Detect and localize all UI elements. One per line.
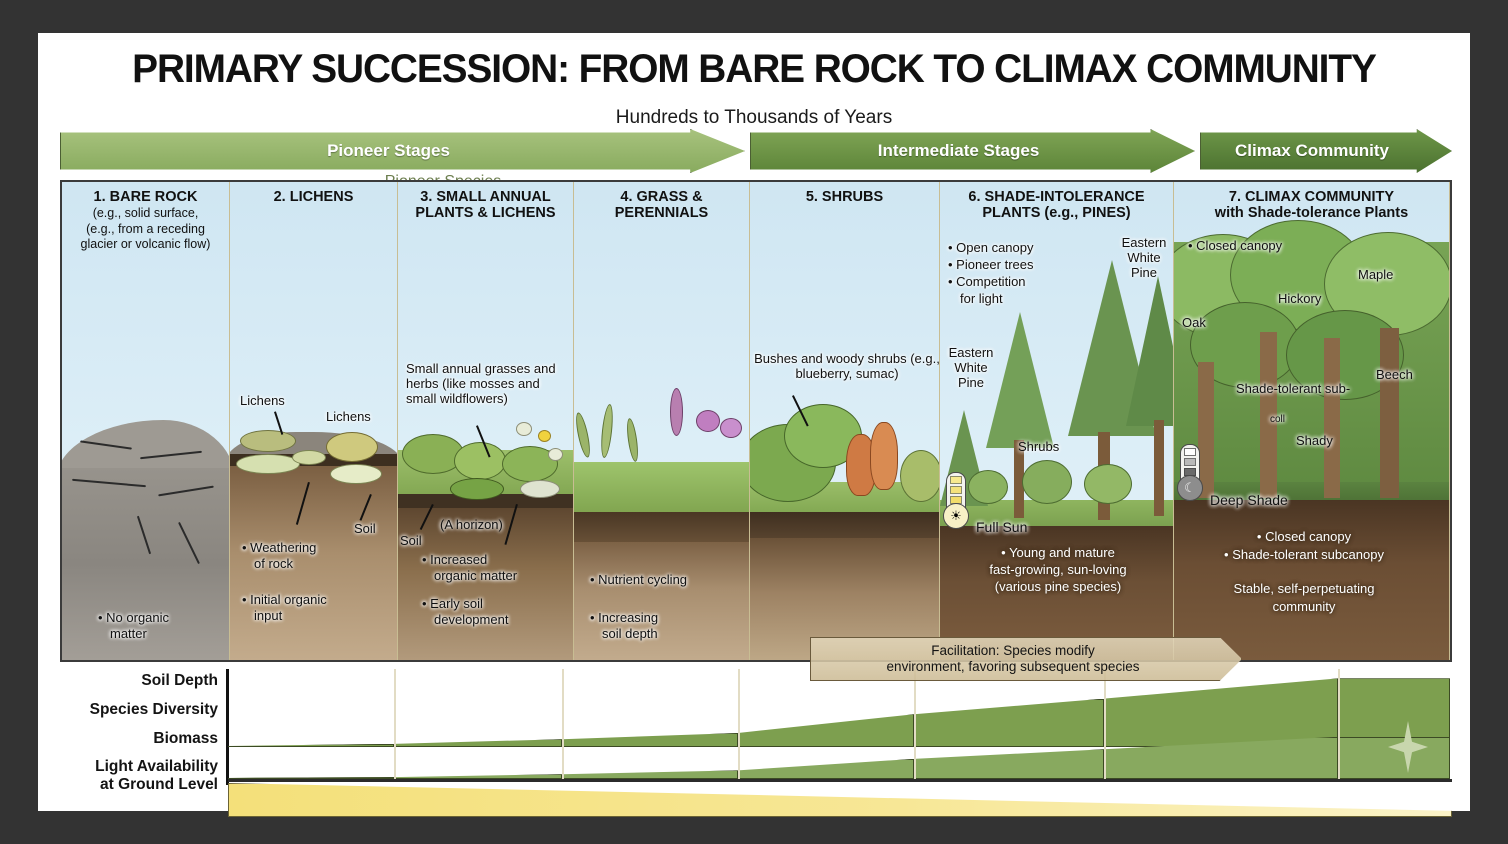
panel-7-climax-community[interactable]: 7. CLIMAX COMMUNITY with Shade-tolerance… [1174,182,1450,660]
callout-eastern-white-pine-left: Eastern White Pine [942,346,1000,391]
facilitation-line-1: Facilitation: Species modify [931,643,1095,658]
panel-6-footnote-line-3: (various pine species) [952,580,1164,595]
chart-axis-labels: Soil Depth Species Diversity Biomass Lig… [60,669,226,801]
panel-4-bullet-2-cont: soil depth [602,626,658,642]
panel-7-footnote-line-3: Stable, self-perpetuating [1190,582,1418,597]
chart-wedge [1104,737,1338,779]
panel-6-footnote-line-1: • Young and mature [952,546,1164,561]
chart-wedge [738,759,914,779]
chart-plot-area [228,669,1452,801]
panel-7-footnote-line-4: community [1190,600,1418,615]
panel-2-bullet-1: • Weathering [242,540,316,556]
trunk-maple [1324,338,1340,498]
lichen-patch [520,480,560,498]
soil-root-zone [574,512,750,546]
meter-label-full-sun: Full Sun [976,519,1027,535]
axis-label-light-line-1: Light Availability [95,759,218,775]
panel-2-bullet-1-cont: of rock [254,556,293,572]
panel-6-shade-intolerance-plants[interactable]: 6. SHADE-INTOLERANCE PLANTS (e.g., PINES… [940,182,1174,660]
panel-3-small-annual-plants[interactable]: 3. SMALL ANNUAL PLANTS & LICHENS Small a… [398,182,574,660]
callout-beech: Beech [1376,368,1413,383]
lichen-patch [240,430,296,452]
moss-patch [450,478,504,500]
axis-label-soil-depth: Soil Depth [141,673,218,689]
chart-segment [914,731,1104,779]
chart-wedge [914,749,1104,779]
facilitation-text: Facilitation: Species modify environment… [887,643,1140,674]
chart-segment [1104,731,1338,779]
panel-6-bullet-2: • Pioneer trees [948,257,1033,273]
facilitation-arrow: Facilitation: Species modify environment… [810,637,1242,681]
chart-column-separator [914,731,916,779]
panel-6-bullet-1: • Open canopy [948,240,1034,256]
chart-baseline [228,779,1452,782]
panel-1-subtitle-line-1: (e.g., solid surface, [62,205,229,221]
panel-2-lichens[interactable]: 2. LICHENS Lichens Lichens Soil • Weathe… [230,182,398,660]
chart-row-lower [228,731,1452,779]
panel-6-title-line-1: 6. SHADE-INTOLERANCE [940,182,1173,205]
chart-column-separator [1104,731,1106,779]
chart-column-separator [394,731,396,779]
callout-oak: Oak [1182,316,1206,331]
chart-column-separator [1338,731,1340,779]
shrub [968,470,1008,504]
panel-3-title-line-2: PLANTS & LICHENS [398,205,573,221]
callout-soil: Soil [354,522,376,537]
wildflower-head [538,430,551,442]
panel-7-footnote-line-1: • Closed canopy [1190,530,1418,545]
callout-lichens-right: Lichens [326,410,371,425]
timespan-label: Hundreds to Thousands of Years [38,107,1470,129]
lichen-patch [330,464,382,484]
perennial-flower [720,418,742,438]
callout-shade-tolerant-sub: Shade-tolerant sub- [1236,382,1350,397]
chart-segment [1338,731,1450,779]
panel-4-bullet-2: • Increasing [590,610,658,626]
stage-arrow-pioneer-label: Pioneer Stages [327,141,450,161]
axis-label-biomass: Biomass [153,731,218,747]
panel-2-bullet-2-cont: input [254,608,282,624]
callout-bushes-woody-shrubs: Bushes and woody shrubs (e.g., blueberry… [754,352,940,382]
shrub [1084,464,1132,504]
panel-5-shrubs[interactable]: 5. SHRUBS Bushes and woody shrubs (e.g.,… [750,182,940,660]
panel-7-title-line-1: 7. CLIMAX COMMUNITY [1174,182,1449,205]
callout-shady: Shady [1296,434,1333,449]
stage-arrow-pioneer[interactable]: Pioneer Stages [60,129,745,173]
perennial-flower [696,410,720,432]
panel-7-bullet-1: • Closed canopy [1188,238,1282,254]
wildflower-head [516,422,532,436]
panel-3-bullet-2: • Early soil [422,596,483,612]
panel-4-title-line-1: 4. GRASS & [574,182,749,205]
panel-2-bullet-2: • Initial organic [242,592,327,608]
panel-6-bullet-3: • Competition [948,274,1026,290]
meter-segment [1184,448,1196,456]
panel-6-title-line-2: PLANTS (e.g., PINES) [940,205,1173,221]
succession-trend-chart: Soil Depth Species Diversity Biomass Lig… [60,669,1452,801]
callout-subcanopy-partial: coll [1270,414,1285,426]
stage-arrow-intermediate-label: Intermediate Stages [878,141,1040,161]
shrub-sumac [870,422,898,490]
axis-label-light-line-2: at Ground Level [100,777,218,793]
panel-4-bullet-1: • Nutrient cycling [590,572,687,588]
grass-clump [900,450,940,502]
stage-panels-row: 1. BARE ROCK (e.g., solid surface, (e.g.… [60,180,1452,662]
panel-3-bullet-2-cont: development [434,612,508,628]
panel-6-bullet-3-cont: for light [960,291,1003,307]
chart-wedge [1338,737,1450,779]
panel-4-grass-perennials[interactable]: 4. GRASS & PERENNIALS • Nutrient cycling… [574,182,750,660]
panel-4-title-line-2: PERENNIALS [574,205,749,221]
lichen-patch [326,432,378,462]
chart-segment [562,731,738,779]
callout-small-annual-grasses: Small annual grasses and herbs (like mos… [406,362,568,407]
callout-lichens-left: Lichens [240,394,285,409]
panel-1-bare-rock[interactable]: 1. BARE ROCK (e.g., solid surface, (e.g.… [62,182,230,660]
panel-1-bullet-1-cont: matter [110,626,147,642]
chart-wedge [562,770,738,779]
trunk-beech [1380,328,1399,498]
callout-soil: Soil [400,534,422,549]
page-title: PRIMARY SUCCESSION: FROM BARE ROCK TO CL… [59,47,1448,92]
panel-7-footnote-line-2: • Shade-tolerant subcanopy [1180,548,1428,563]
callout-eastern-white-pine-right: Eastern White Pine [1116,236,1172,281]
panel-5-title: 5. SHRUBS [750,182,939,205]
stage-arrow-climax-label: Climax Community [1235,141,1389,161]
grass-clump [454,442,506,480]
stage-arrow-band: Pioneer Stages Intermediate Stages Clima… [60,129,1452,173]
meter-segment [950,476,962,484]
trunk-oak [1198,362,1214,498]
moon-icon: ☾ [1177,475,1203,501]
perennial-flower-spike [670,388,683,436]
lichen-patch [292,450,326,465]
chart-light-availability-wedge [228,783,1452,817]
chart-column-separator [562,731,564,779]
panel-3-bullet-1: • Increased [422,552,487,568]
stage-arrow-climax[interactable]: Climax Community [1200,129,1452,173]
panel-3-bullet-1-cont: organic matter [434,568,517,584]
meter-label-deep-shade: Deep Shade [1210,492,1288,508]
chart-segment [228,731,394,779]
lichen-patch [236,454,300,474]
panel-1-subtitle-line-2: (e.g., from a receding [62,221,229,237]
pine-trunk [1154,420,1164,516]
soil-body [574,542,750,660]
panel-1-bullet-1: • No organic [98,610,169,626]
light-meter-full-sun[interactable]: ☀ [946,472,966,524]
chart-segment [394,731,562,779]
meter-segment [1184,458,1196,466]
sun-icon: ☀ [943,503,969,529]
panel-2-title: 2. LICHENS [230,182,397,205]
callout-maple: Maple [1358,268,1393,283]
panel-7-title-line-2: with Shade-tolerance Plants [1174,205,1449,221]
poster-canvas: PRIMARY SUCCESSION: FROM BARE ROCK TO CL… [38,33,1470,811]
stage-arrow-intermediate[interactable]: Intermediate Stages [750,129,1195,173]
chart-column-separator [738,731,740,779]
wildflower-head [548,448,563,461]
axis-label-species-diversity: Species Diversity [90,702,218,718]
pine-tree [1126,276,1174,426]
soil-body [1174,500,1450,660]
callout-hickory: Hickory [1278,292,1321,307]
chart-segment [738,731,914,779]
light-meter-deep-shade[interactable]: ☾ [1180,444,1200,496]
facilitation-line-2: environment, favoring subsequent species [887,659,1140,674]
callout-shrubs: Shrubs [1018,440,1059,455]
panel-6-footnote-line-2: fast-growing, sun-loving [952,563,1164,578]
shrub [1022,460,1072,504]
meter-segment [950,486,962,494]
panel-1-subtitle-line-3: glacier or volcanic flow) [62,236,229,252]
panel-1-title: 1. BARE ROCK [62,182,229,205]
panel-3-title-line-1: 3. SMALL ANNUAL [398,182,573,205]
callout-a-horizon: (A horizon) [440,518,503,533]
